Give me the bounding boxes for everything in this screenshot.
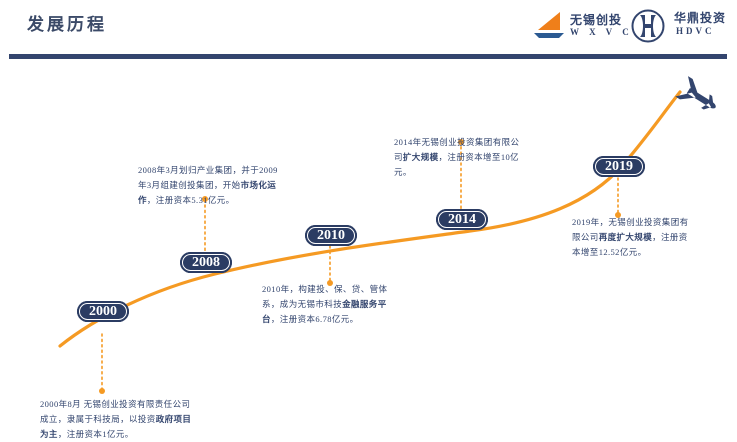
year-badge-2000[interactable]: 2000: [77, 301, 129, 322]
milestone-text-2000: 2000年8月 无锡创业投资有限责任公司成立，隶属于科技局，以投资政府项目为主，…: [40, 397, 192, 442]
milestone-text-2019: 2019年，无锡创业投资集团有限公司再度扩大规模，注册资本增至12.52亿元。: [572, 215, 696, 260]
airplane-icon: [675, 76, 722, 118]
logo-wxvc: 无锡创投 W X V C: [532, 8, 624, 44]
logo-hdvc-name-en: HDVC: [676, 26, 715, 36]
year-badge-2019-label: 2019: [605, 159, 633, 174]
circle-h-icon: [630, 8, 666, 44]
timeline-canvas: 2000 2008 2010 2014 2019 2000年8月 无锡创业投资有…: [0, 56, 737, 402]
milestone-text-2010: 2010年，构建投、保、贷、管体系，成为无锡市科技金融服务平台，注册资本6.78…: [262, 282, 398, 327]
year-badge-2010-label: 2010: [317, 228, 345, 243]
milestone-text-2008: 2008年3月划归产业集团，并于2009年3月组建创投集团，开始市场化运作，注册…: [138, 163, 278, 208]
logo-hdvc: 华鼎投资 HDVC: [630, 6, 728, 46]
logo-hdvc-name-cn: 华鼎投资: [674, 9, 726, 26]
sailboat-icon: [532, 10, 566, 40]
year-badge-2010[interactable]: 2010: [305, 225, 357, 246]
logo-wxvc-name-cn: 无锡创投: [570, 11, 622, 28]
year-badge-2014[interactable]: 2014: [436, 209, 488, 230]
year-badge-2014-label: 2014: [448, 212, 476, 227]
year-badge-2000-label: 2000: [89, 304, 117, 319]
connector-dot-2000: [99, 388, 105, 394]
slide-header: 发展历程 无锡创投 W X V C 华鼎投资 HDVC: [0, 0, 737, 56]
year-badge-2019[interactable]: 2019: [593, 156, 645, 177]
milestone-text-2014: 2014年无锡创业投资集团有限公司扩大规模，注册资本增至10亿元。: [394, 135, 526, 180]
year-badge-2008[interactable]: 2008: [180, 252, 232, 273]
logo-wxvc-name-en: W X V C: [570, 27, 633, 37]
year-badge-2008-label: 2008: [192, 255, 220, 270]
page-title: 发展历程: [27, 10, 107, 35]
